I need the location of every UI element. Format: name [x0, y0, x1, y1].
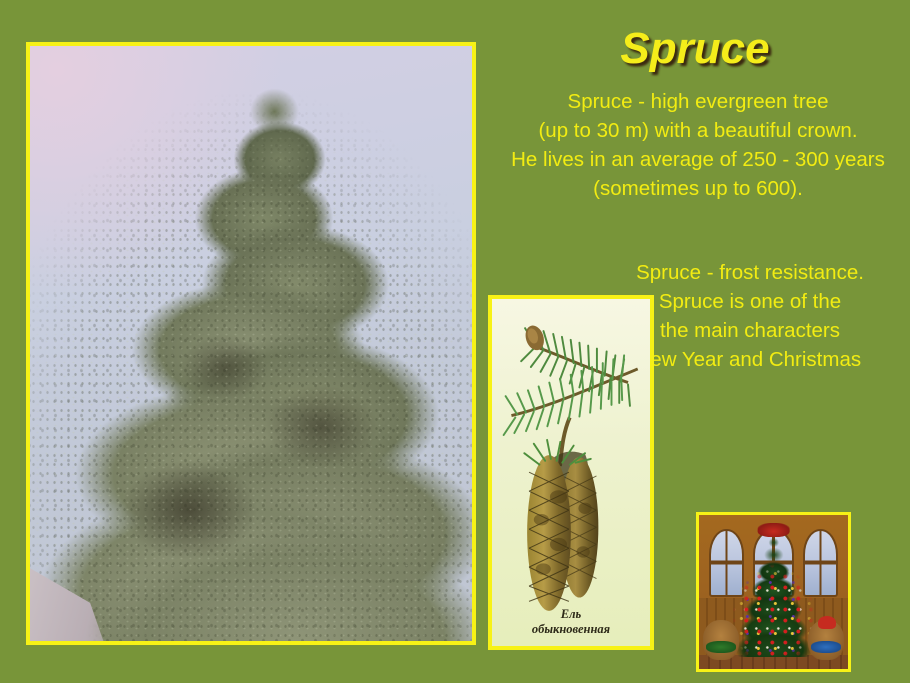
holiday-line-1: Spruce - frost resistance. [580, 258, 910, 287]
caption-line-2: обыкновенная [492, 622, 650, 637]
description-text-block: Spruce - high evergreen tree (up to 30 m… [486, 87, 910, 203]
description-line-1: Spruce - high evergreen tree [486, 87, 910, 116]
main-spruce-photo[interactable] [26, 42, 476, 645]
teddy-bear-right [808, 620, 844, 660]
teddy-bear-right-garland [811, 641, 841, 653]
spruce-cones-drawing [492, 438, 650, 618]
botanical-illustration[interactable]: Ель обыкновенная [488, 295, 654, 650]
illustration-caption: Ель обыкновенная [492, 607, 650, 637]
description-line-3: He lives in an average of 250 - 300 year… [486, 145, 910, 174]
tree-topper-icon [757, 523, 790, 537]
description-line-2: (up to 30 m) with a beautiful crown. [486, 116, 910, 145]
spruce-needle-texture [30, 46, 472, 641]
teddy-bear-left [703, 620, 739, 660]
santa-hat-icon [818, 616, 837, 630]
presentation-slide: Spruce Spruce - high evergreen tree (up … [0, 0, 910, 683]
description-line-4: (sometimes up to 600). [486, 174, 910, 203]
teddy-bear-left-garland [706, 641, 736, 653]
caption-line-1: Ель [492, 607, 650, 622]
christmas-tree-photo[interactable] [696, 512, 851, 672]
page-title: Spruce [480, 24, 910, 74]
